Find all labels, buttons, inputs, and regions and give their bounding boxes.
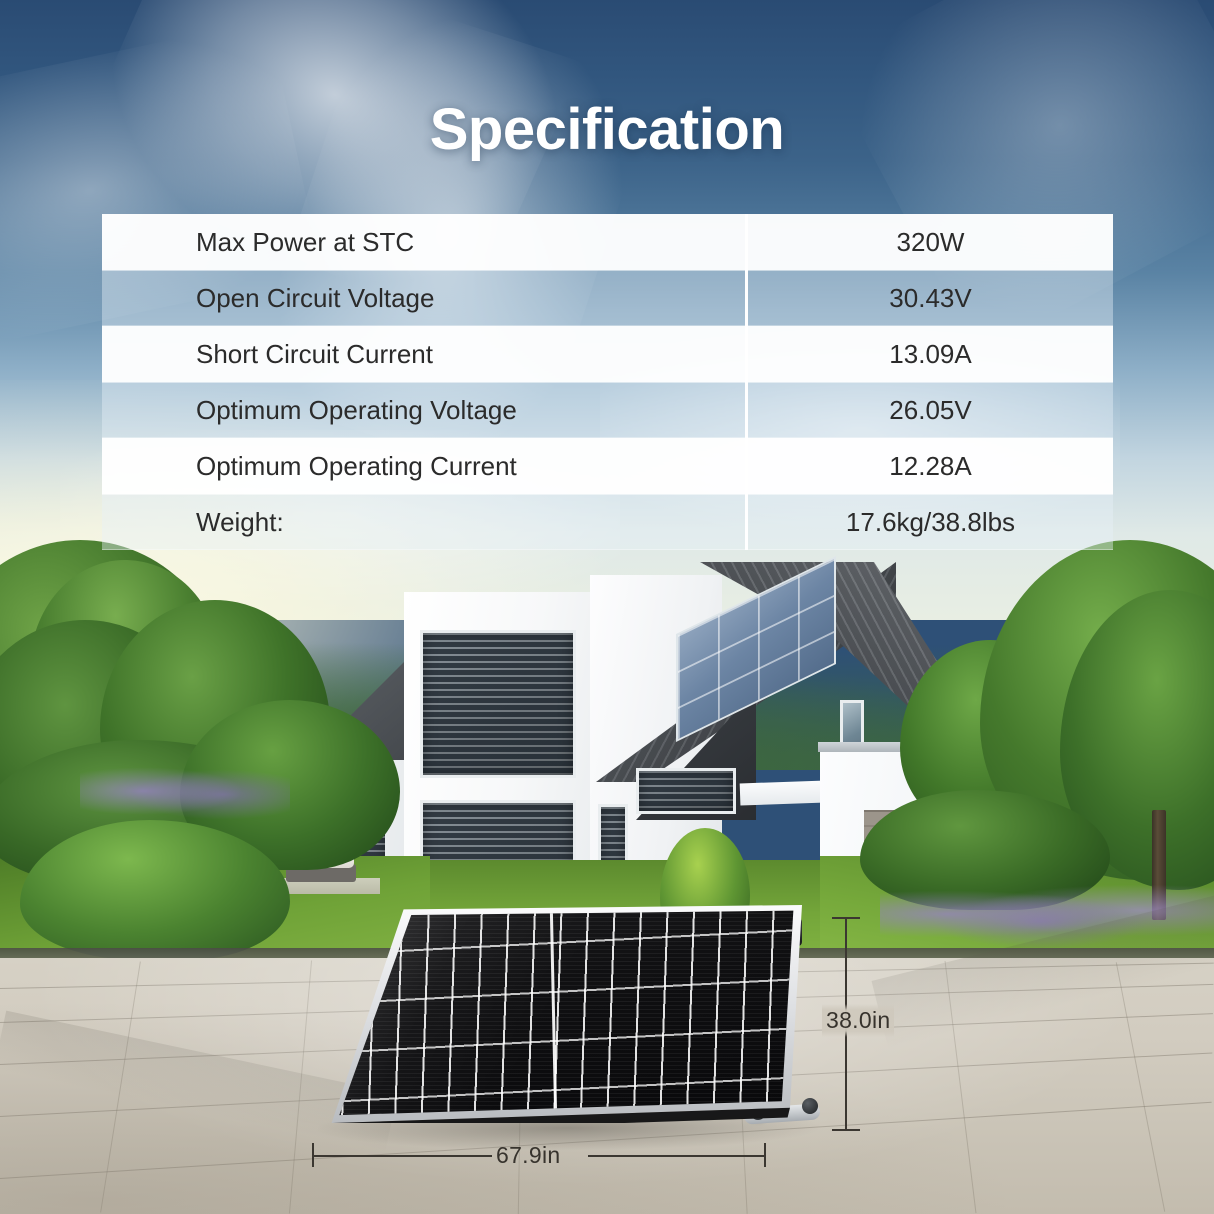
- height-dimension-label: 38.0in: [822, 1004, 894, 1037]
- spec-value: 13.09A: [748, 339, 1113, 370]
- dimension-cap-right: [764, 1143, 766, 1167]
- spec-value: 12.28A: [748, 451, 1113, 482]
- table-row: Short Circuit Current 13.09A: [102, 326, 1113, 382]
- spec-label: Optimum Operating Voltage: [102, 395, 745, 426]
- spec-value: 30.43V: [748, 283, 1113, 314]
- spec-value: 26.05V: [748, 395, 1113, 426]
- panel-glass-gloss: [322, 905, 802, 1123]
- solar-panel-module: [322, 905, 802, 1123]
- table-row: Optimum Operating Voltage 26.05V: [102, 382, 1113, 438]
- table-row: Optimum Operating Current 12.28A: [102, 438, 1113, 494]
- table-row: Max Power at STC 320W: [102, 214, 1113, 270]
- page-title: Specification: [0, 96, 1214, 163]
- spec-label: Optimum Operating Current: [102, 451, 745, 482]
- specification-table: Max Power at STC 320W Open Circuit Volta…: [102, 214, 1113, 550]
- dimension-line-right: [588, 1155, 766, 1157]
- product-spec-image: 38.0in 67.9in Specification Max Power at…: [0, 0, 1214, 1214]
- spec-label: Max Power at STC: [102, 227, 745, 258]
- table-row: Open Circuit Voltage 30.43V: [102, 270, 1113, 326]
- kickstand-hinge-icon: [802, 1098, 818, 1114]
- spec-value: 17.6kg/38.8lbs: [748, 507, 1113, 538]
- foreground-solar-panel: [0, 0, 1214, 1214]
- dimension-cap-bottom: [832, 1129, 860, 1131]
- spec-label: Weight:: [102, 507, 745, 538]
- table-row: Weight: 17.6kg/38.8lbs: [102, 494, 1113, 550]
- spec-label: Short Circuit Current: [102, 339, 745, 370]
- spec-label: Open Circuit Voltage: [102, 283, 745, 314]
- spec-value: 320W: [748, 227, 1113, 258]
- width-dimension-label: 67.9in: [496, 1142, 560, 1169]
- dimension-line-left: [312, 1155, 492, 1157]
